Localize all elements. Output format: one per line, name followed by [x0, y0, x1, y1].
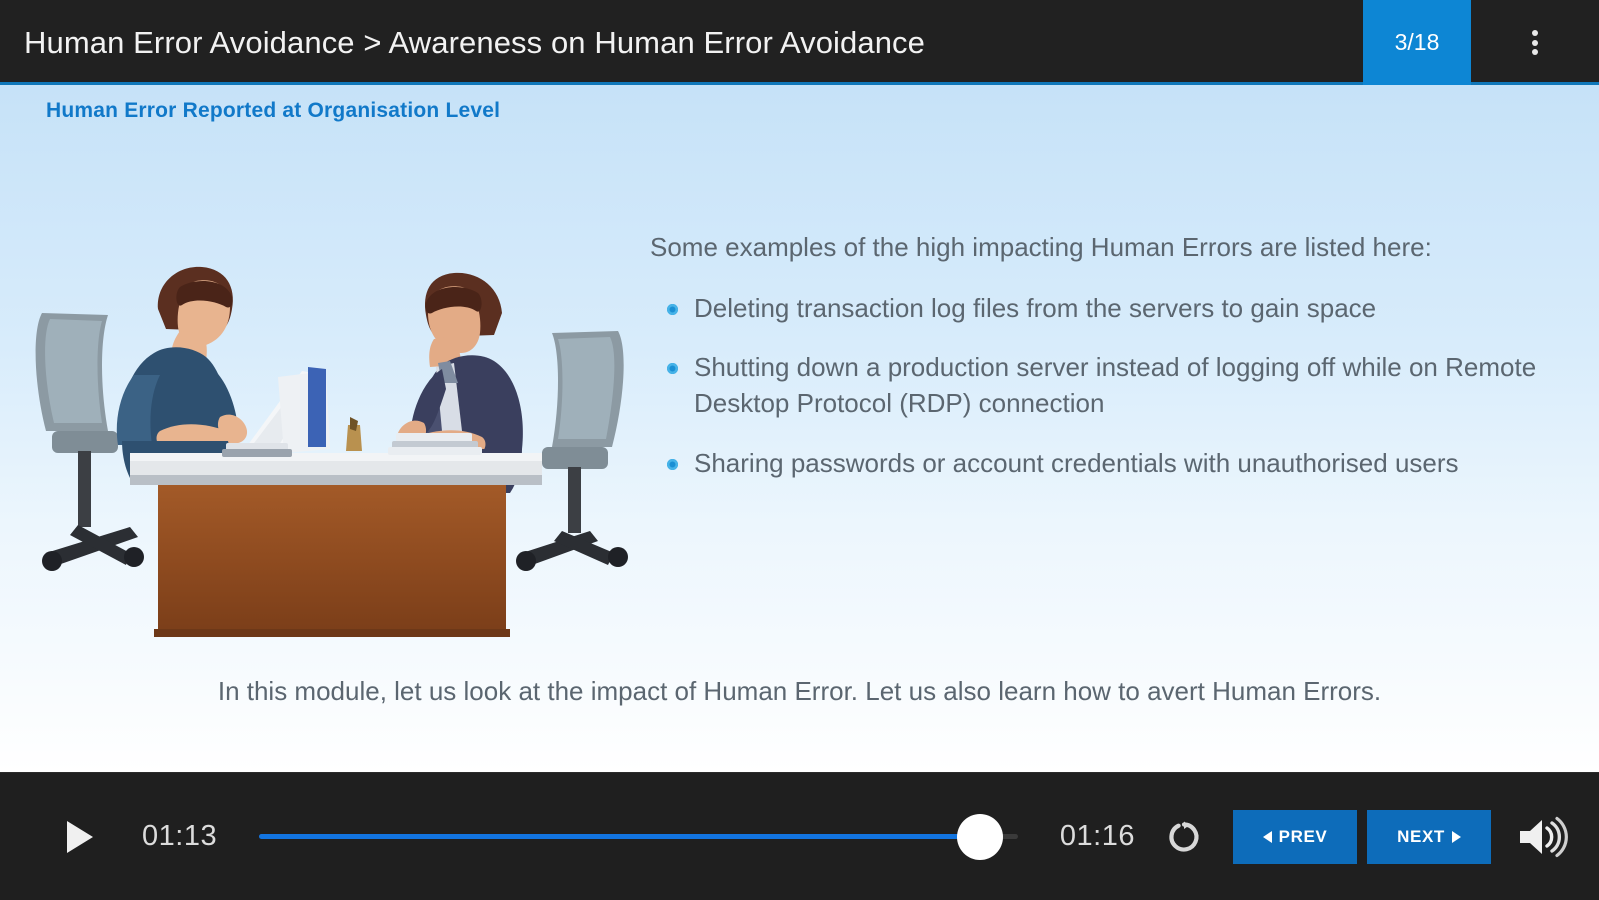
- bullet-dot-icon: [667, 304, 678, 315]
- slide-stage: Human Error Reported at Organisation Lev…: [0, 85, 1599, 772]
- overflow-menu-button[interactable]: [1471, 0, 1599, 85]
- bullet-dot-icon: [667, 459, 678, 470]
- progress-handle[interactable]: [957, 814, 1003, 860]
- list-item-text: Sharing passwords or account credentials…: [694, 448, 1459, 478]
- breadcrumb: Human Error Avoidance > Awareness on Hum…: [0, 0, 1363, 85]
- vertical-dots-icon: [1532, 27, 1538, 59]
- prev-button-label: PREV: [1279, 827, 1328, 847]
- arrow-right-icon: [1452, 831, 1461, 843]
- player-controls: 01:13 01:16 PREV NEXT: [0, 772, 1599, 900]
- volume-button[interactable]: [1511, 811, 1573, 863]
- slide-title: Human Error Reported at Organisation Lev…: [46, 99, 500, 123]
- next-button-label: NEXT: [1397, 827, 1445, 847]
- list-item-text: Shutting down a production server instea…: [694, 352, 1536, 418]
- next-button[interactable]: NEXT: [1367, 810, 1491, 864]
- replay-button[interactable]: [1157, 814, 1211, 860]
- closing-paragraph: In this module, let us look at the impac…: [0, 673, 1599, 709]
- arrow-left-icon: [1263, 831, 1272, 843]
- progress-slider[interactable]: [259, 815, 1018, 859]
- desk: [130, 453, 542, 637]
- slide-text-column: Some examples of the high impacting Huma…: [650, 230, 1550, 482]
- bullet-dot-icon: [667, 363, 678, 374]
- list-item: Shutting down a production server instea…: [650, 350, 1550, 422]
- replay-circle-icon: [1167, 820, 1201, 854]
- player-header: Human Error Avoidance > Awareness on Hum…: [0, 0, 1599, 85]
- error-examples-list: Deleting transaction log files from the …: [650, 291, 1550, 483]
- meeting-illustration: [30, 235, 630, 655]
- list-item-text: Deleting transaction log files from the …: [694, 293, 1376, 323]
- play-triangle-icon: [67, 821, 93, 853]
- right-office-chair: [516, 331, 628, 571]
- speaker-volume-icon: [1516, 815, 1568, 859]
- list-item: Deleting transaction log files from the …: [650, 291, 1550, 327]
- play-button[interactable]: [58, 815, 102, 859]
- progress-fill: [259, 834, 980, 839]
- total-time: 01:16: [1060, 820, 1135, 853]
- page-indicator-badge[interactable]: 3/18: [1363, 0, 1471, 85]
- list-item: Sharing passwords or account credentials…: [650, 446, 1550, 482]
- intro-paragraph: Some examples of the high impacting Huma…: [650, 230, 1550, 265]
- course-player: Human Error Avoidance > Awareness on Hum…: [0, 0, 1599, 900]
- elapsed-time: 01:13: [142, 820, 217, 853]
- prev-button[interactable]: PREV: [1233, 810, 1357, 864]
